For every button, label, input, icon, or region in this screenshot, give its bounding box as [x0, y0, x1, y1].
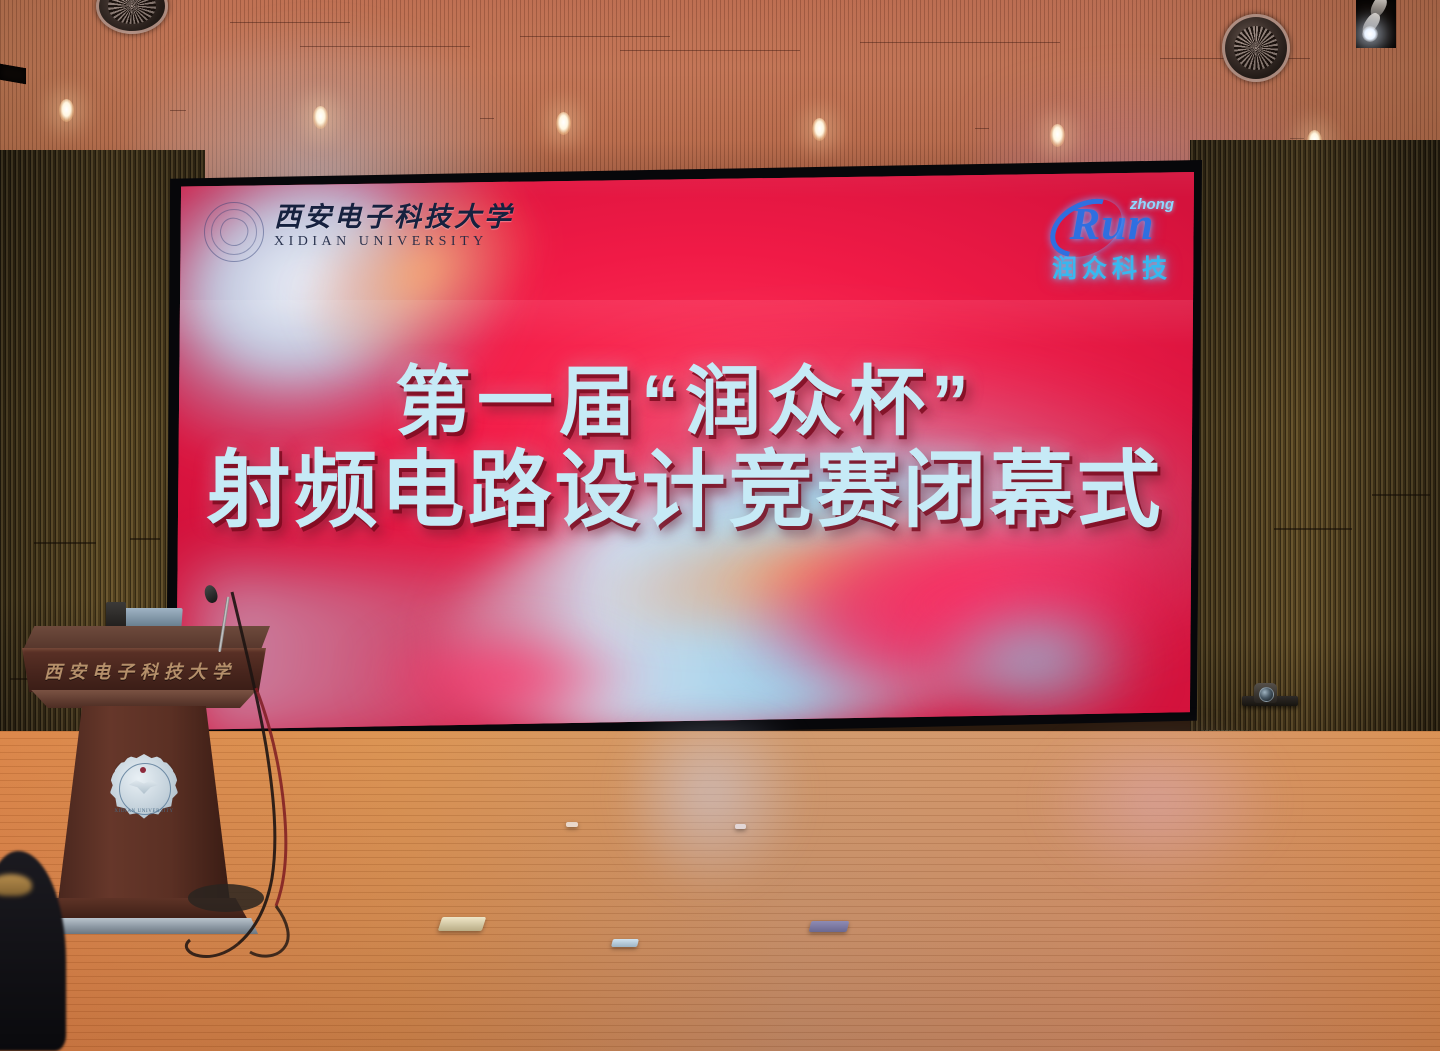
downlight — [59, 99, 74, 122]
wall-seam — [1274, 528, 1352, 530]
xidian-seal-icon — [204, 202, 264, 262]
cable-coil — [186, 940, 238, 957]
ceiling-seam — [520, 36, 670, 37]
university-logo-text: 西安电子科技大学 XIDIAN UNIVERSITY — [274, 202, 514, 250]
ceiling-seam — [975, 128, 989, 129]
downlight — [812, 118, 827, 141]
headline-line-1: 第一届“润众杯” — [176, 364, 1194, 442]
sponsor-wordmark-row: Run zhong — [1052, 200, 1172, 248]
wall-seam — [130, 538, 160, 540]
ceiling-seam — [230, 22, 350, 23]
floor-socket-right — [809, 921, 850, 932]
floor-light-reflection-right — [980, 741, 1340, 941]
camera-lens-icon — [1259, 687, 1274, 702]
sponsor-superscript: zhong — [1130, 196, 1174, 213]
floor-speck — [566, 822, 578, 827]
ceiling-seam — [480, 118, 494, 119]
floor-speck — [735, 824, 746, 829]
right-wall — [1190, 140, 1440, 780]
downlight — [313, 106, 328, 129]
downlight — [556, 112, 571, 135]
ceiling-seam — [1290, 138, 1304, 139]
ceiling-seam — [300, 46, 470, 47]
cable-floor-mat — [188, 884, 264, 912]
ceiling-seam — [860, 42, 1060, 43]
ceiling-seam — [620, 50, 800, 51]
ceiling-light-slot — [1356, 0, 1396, 48]
floor-socket-center — [611, 939, 639, 947]
sponsor-logo: Run zhong 润众科技 — [1052, 200, 1172, 285]
cable-coil — [250, 906, 288, 956]
screen-ribbon-cyan-bright — [876, 572, 1194, 730]
downlight — [1050, 124, 1065, 147]
wall-seam — [1372, 494, 1430, 496]
university-logo: 西安电子科技大学 XIDIAN UNIVERSITY — [204, 202, 514, 262]
university-name-chinese: 西安电子科技大学 — [274, 204, 514, 231]
ceiling-seam — [170, 110, 186, 111]
floor-socket-left — [438, 917, 487, 931]
foreground-object — [0, 874, 32, 896]
ceiling-vent-right-icon — [1222, 14, 1290, 82]
headline-line-2: 射频电路设计竞赛闭幕式 — [176, 448, 1194, 534]
spotlight-beam — [1362, 26, 1378, 42]
auditorium-scene: 西安电子科技大学 XIDIAN UNIVERSITY Run zhong 润众科… — [0, 0, 1440, 1051]
university-name-english: XIDIAN UNIVERSITY — [274, 234, 514, 250]
wall-slat-texture — [1190, 140, 1440, 780]
wall-seam — [34, 542, 96, 544]
event-headline: 第一届“润众杯” 射频电路设计竞赛闭幕式 — [176, 364, 1194, 533]
